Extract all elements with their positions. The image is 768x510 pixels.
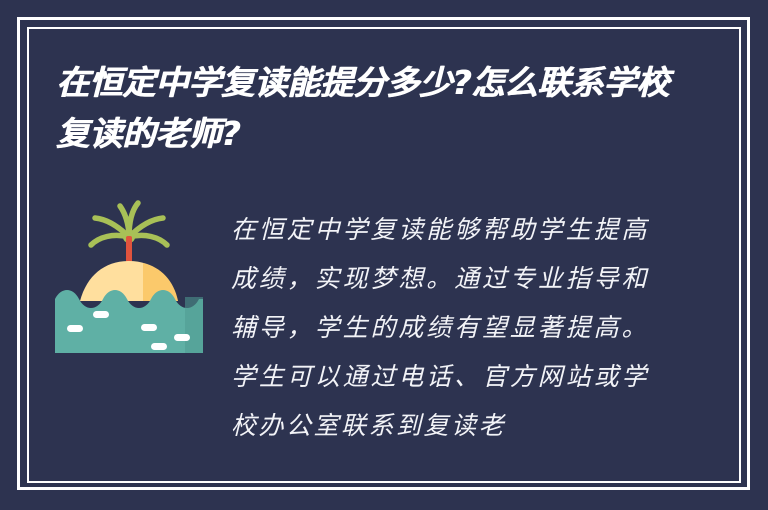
water-shade-band (185, 297, 203, 353)
palm-tree-island-illustration (55, 193, 203, 356)
poster-canvas: 在恒定中学复读能提分多少?怎么联系学校复读的老师? (0, 0, 768, 510)
island-icon (55, 193, 203, 356)
page-title: 在恒定中学复读能提分多少?怎么联系学校复读的老师? (56, 57, 696, 159)
body-paragraph: 在恒定中学复读能够帮助学生提高成绩，实现梦想。通过专业指导和辅导，学生的成绩有望… (231, 205, 649, 467)
